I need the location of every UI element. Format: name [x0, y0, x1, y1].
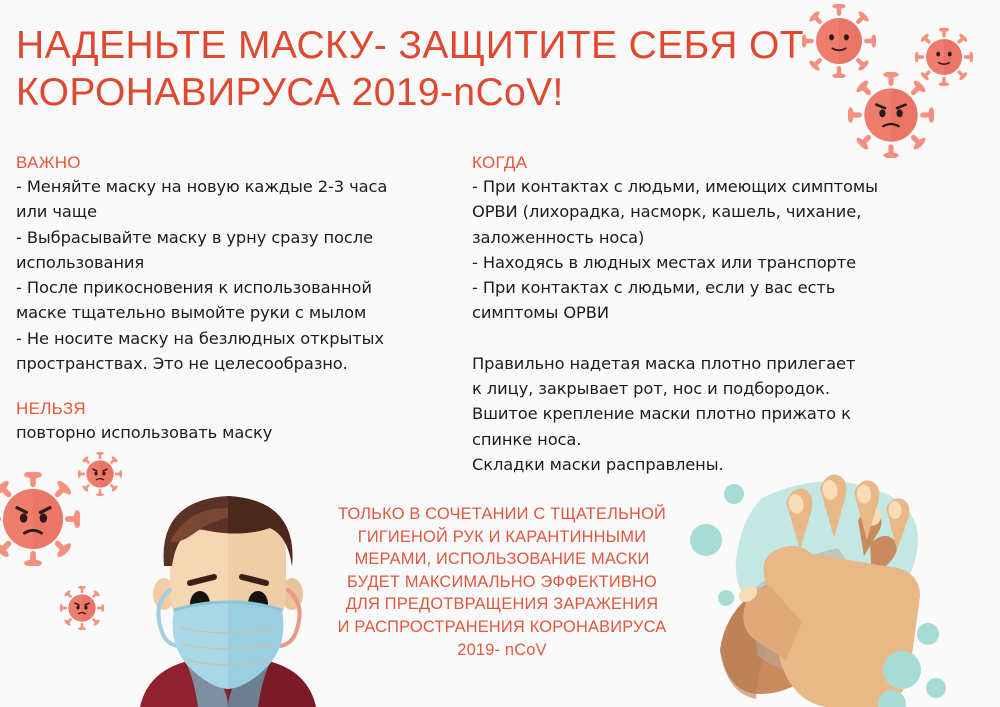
virus-left-small	[60, 586, 104, 630]
left-column: ВАЖНО - Меняйте маску на новую каждые 2-…	[16, 152, 468, 446]
boy-wearing-mask	[112, 482, 344, 707]
page-title: НАДЕНЬТЕ МАСКУ- ЗАЩИТИТЕ СЕБЯ ОТ КОРОНАВ…	[16, 22, 806, 116]
virus-top-right-1	[802, 4, 876, 78]
section-heading-when: КОГДА	[472, 152, 972, 173]
virus-top-right-3	[848, 72, 934, 158]
hands-washing	[690, 462, 1000, 707]
section-heading-forbidden: НЕЛЬЗЯ	[16, 398, 468, 419]
right-column: КОГДА - При контактах с людьми, имеющих …	[472, 152, 972, 477]
important-text: - Меняйте маску на новую каждые 2-3 часа…	[16, 174, 468, 376]
when-text: - При контактах с людьми, имеющих симпто…	[472, 174, 972, 326]
caption-text: ТОЛЬКО В СОЧЕТАНИИ С ТЩАТЕЛЬНОЙ ГИГИЕНОЙ…	[312, 503, 692, 661]
infographic-poster: НАДЕНЬТЕ МАСКУ- ЗАЩИТИТЕ СЕБЯ ОТ КОРОНАВ…	[0, 0, 1000, 707]
section-heading-important: ВАЖНО	[16, 152, 468, 173]
virus-left-large	[0, 472, 80, 566]
forbidden-text: повторно использовать маску	[16, 420, 468, 445]
mask-fit-note: Правильно надетая маска плотно прилегает…	[472, 351, 972, 477]
